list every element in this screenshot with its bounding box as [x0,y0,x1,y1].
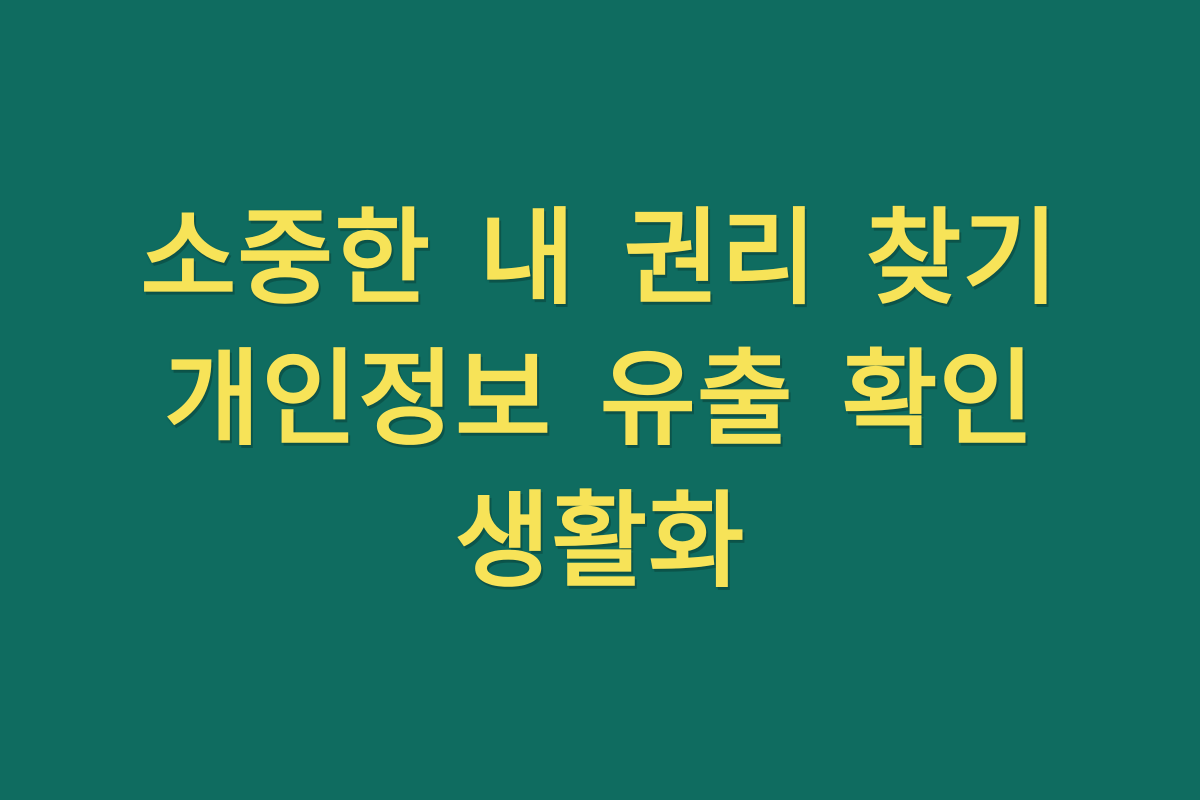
headline-block: 소중한 내 권리 찾기 개인정보 유출 확인 생활화 [100,188,1100,612]
text-banner-card: 소중한 내 권리 찾기 개인정보 유출 확인 생활화 [0,0,1200,800]
headline-title: 소중한 내 권리 찾기 개인정보 유출 확인 생활화 [108,188,1092,612]
